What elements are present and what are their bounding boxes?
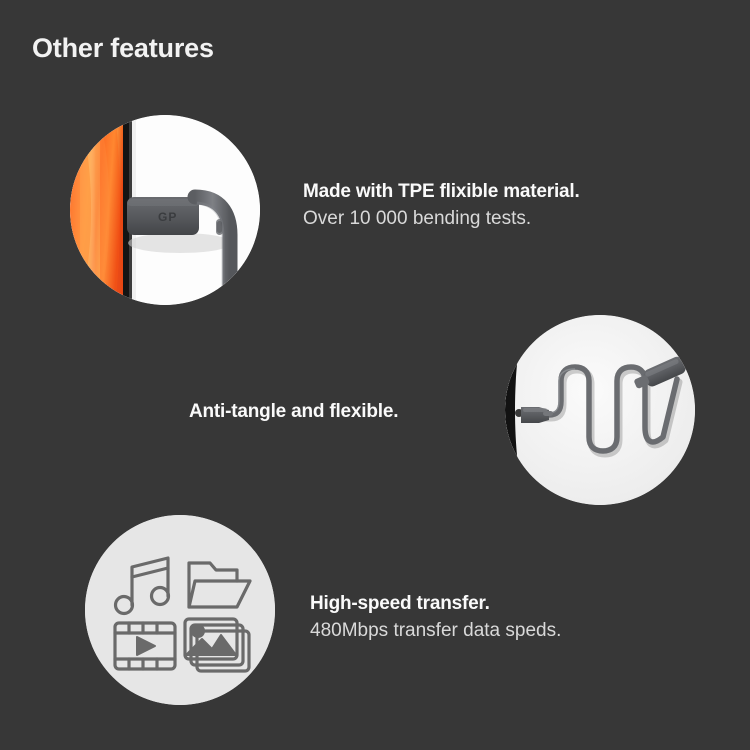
feature-subtitle: 480Mbps transfer data speds.: [310, 618, 561, 644]
cable-phone-illustration: GP: [70, 115, 260, 305]
feature-block-tpe-material: GP Made with TPE flixible material. Over…: [0, 0, 750, 320]
feature-title: Made with TPE flixible material.: [303, 180, 580, 204]
feature-caption-high-speed-transfer: High-speed transfer. 480Mbps transfer da…: [310, 592, 561, 643]
brand-mark-gp: GP: [158, 210, 177, 224]
feature-caption-anti-tangle: Anti-tangle and flexible.: [189, 400, 398, 424]
cable-connected-to-phone-photo: GP: [70, 115, 260, 305]
feature-block-anti-tangle: Anti-tangle and flexible.: [0, 300, 750, 530]
feature-block-high-speed-transfer: High-speed transfer. 480Mbps transfer da…: [0, 500, 750, 750]
zigzag-cable-photo: [505, 315, 695, 505]
media-types-icon-circle: [85, 515, 275, 705]
feature-title: High-speed transfer.: [310, 592, 561, 616]
media-types-illustration: [85, 515, 275, 705]
feature-subtitle: Over 10 000 bending tests.: [303, 206, 580, 232]
feature-caption-tpe-material: Made with TPE flixible material. Over 10…: [303, 180, 580, 231]
feature-title: Anti-tangle and flexible.: [189, 400, 398, 424]
zigzag-cable-illustration: [505, 315, 695, 505]
feature-list-page: Other features: [0, 0, 750, 750]
